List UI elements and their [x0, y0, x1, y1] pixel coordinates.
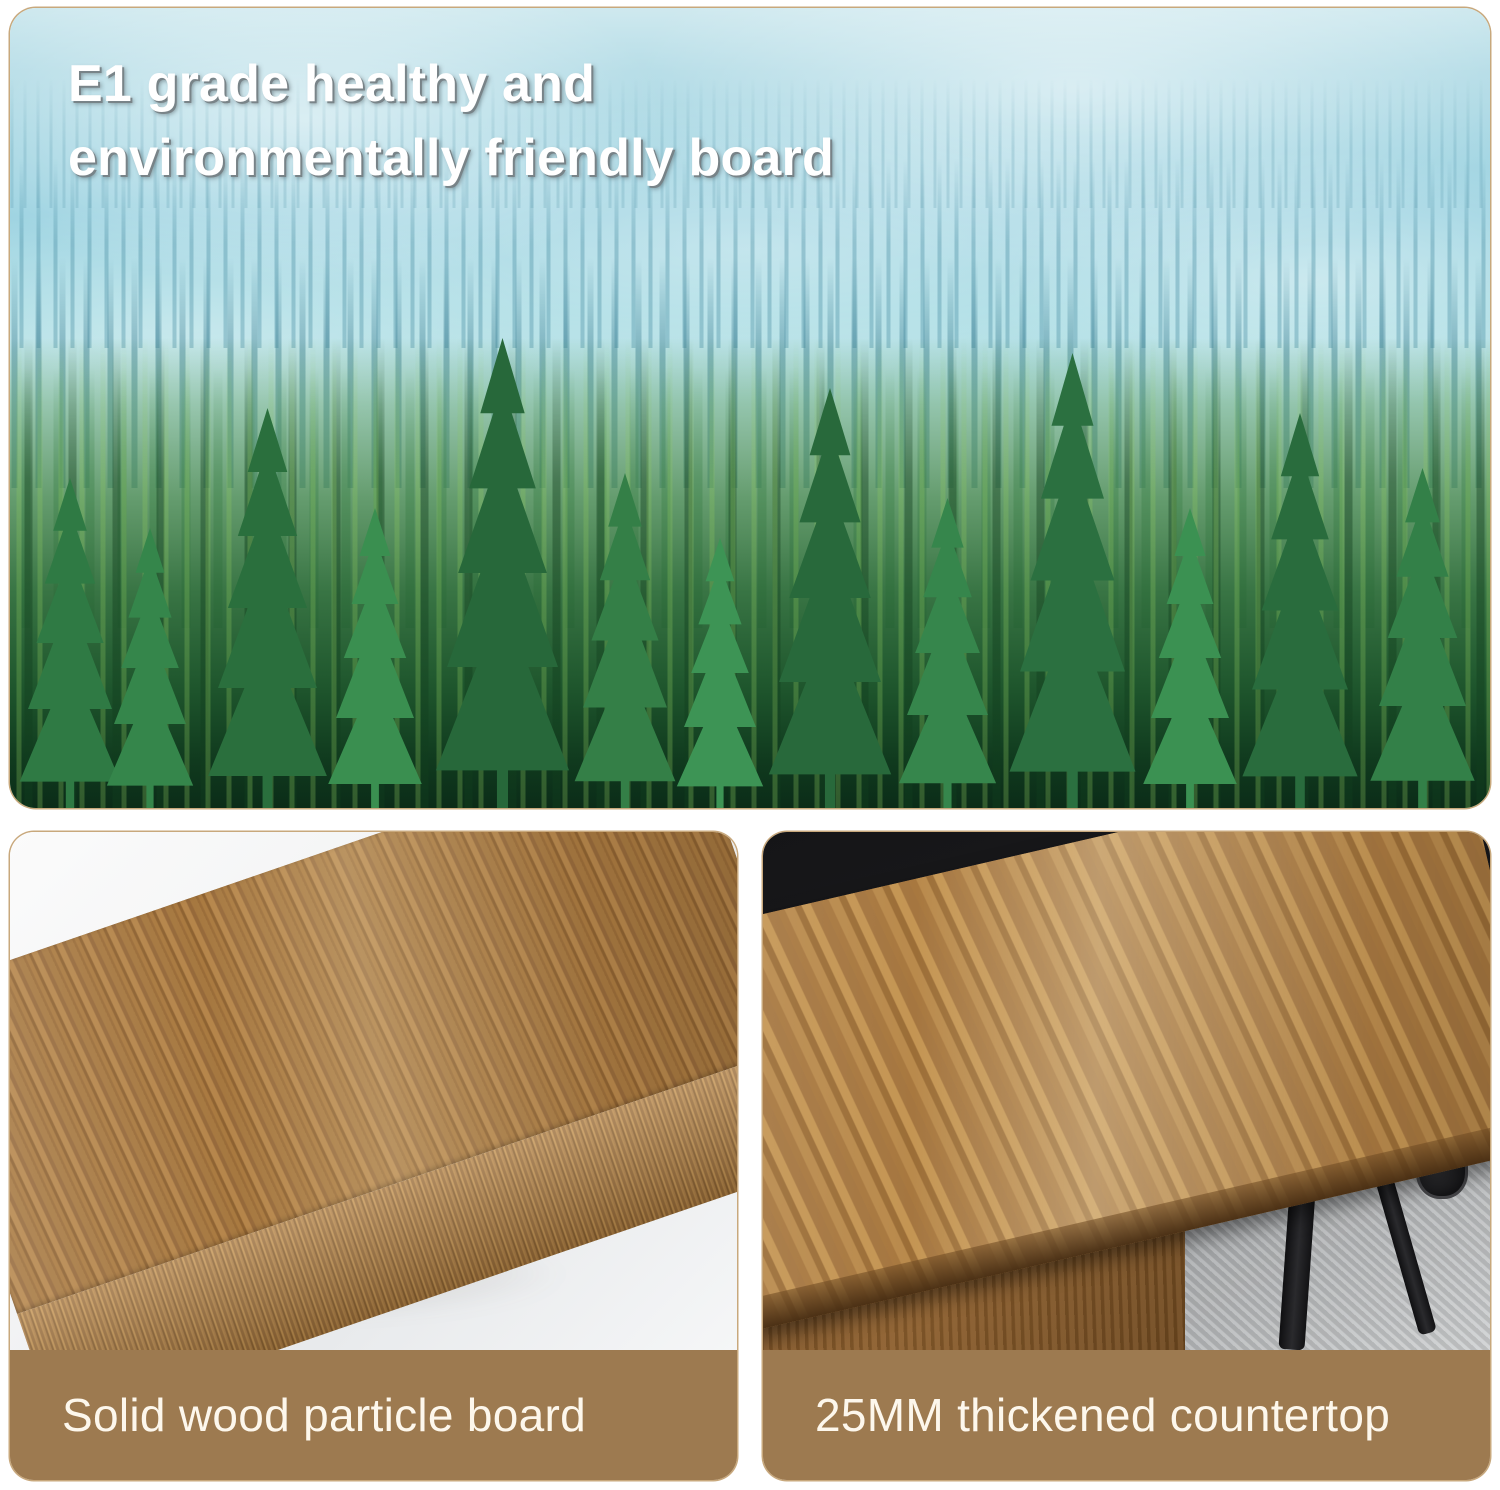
caption-bar-right: 25MM thickened countertop: [763, 1350, 1490, 1480]
caption-label-right: 25MM thickened countertop: [815, 1388, 1390, 1442]
board-slab-photo: [10, 832, 737, 1350]
caption-bar-left: Solid wood particle board: [10, 1350, 737, 1480]
forest-hero-banner: E1 grade healthy and environmentally fri…: [10, 8, 1490, 808]
product-feature-image: E1 grade healthy and environmentally fri…: [0, 0, 1500, 1490]
caption-label-left: Solid wood particle board: [62, 1388, 586, 1442]
hero-headline: E1 grade healthy and environmentally fri…: [68, 48, 1168, 196]
headline-line-2: environmentally friendly board: [68, 122, 1168, 196]
conifer-tree: [1350, 468, 1490, 808]
headline-line-1: E1 grade healthy and: [68, 48, 1168, 122]
desk-corner-photo: [763, 832, 1490, 1350]
thickened-countertop-card: 25MM thickened countertop: [763, 832, 1490, 1480]
solid-wood-particle-board-card: Solid wood particle board: [10, 832, 737, 1480]
feature-cards-row: Solid wood particle board 25MM thicken: [10, 832, 1490, 1480]
